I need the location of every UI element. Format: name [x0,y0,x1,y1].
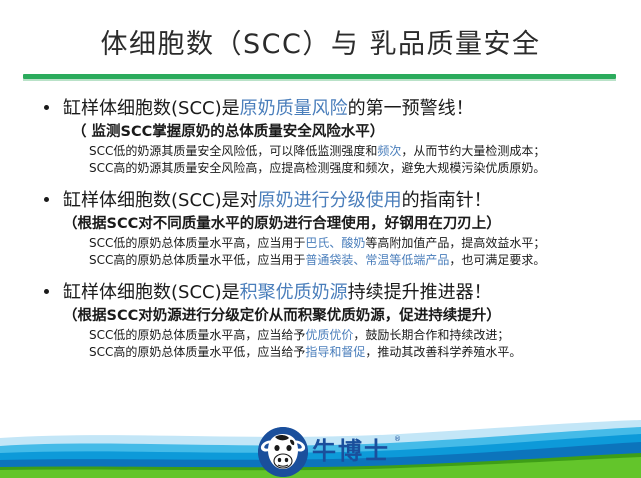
detail-text-pre: SCC高的原奶总体质量水平低，应当给予 [89,345,305,359]
logo-trademark-icon: ® [394,435,401,443]
headline-text-pre: 缸样体细胞数(SCC)是 [63,282,240,303]
detail-text-post: ，推动其改善科学养殖水平。 [365,345,521,359]
headline-text-pre: 缸样体细胞数(SCC)是对 [63,190,258,211]
bullet-headline-2: 缸样体细胞数(SCC)是对原奶进行分级使用的指南针！ [63,190,492,211]
bullet-group-2: 缸样体细胞数(SCC)是对原奶进行分级使用的指南针！ （根据SCC对不同质量水平… [0,188,641,269]
detail-text-post: ，鼓励长期合作和持续改进； [353,328,509,342]
title-block: 体细胞数（SCC）与 乳品质量安全 [0,26,641,64]
headline-text-post: 持续提升推进器！ [348,282,492,303]
detail-highlight: 普通袋装、常温等低端产品 [305,253,449,267]
detail-text-post: 等高附加值产品，提高效益水平； [365,236,545,250]
detail-text-pre: SCC高的原奶总体质量水平低，应当用于 [89,253,305,267]
bullet-detail-3-1: SCC低的原奶总体质量水平高，应当给予优质优价，鼓励长期合作和持续改进； [0,327,641,344]
detail-text-pre: SCC高的奶源其质量安全风险高，应提高检测强度和频次，避免大规模污染优质原奶。 [89,161,545,175]
bullet-headline-row-1: 缸样体细胞数(SCC)是原奶质量风险的第一预警线！ [0,96,641,121]
title-underline-shadow [23,79,616,81]
bullet-subhead-1: （ 监测SCC掌握原奶的总体质量安全风险水平） [0,121,641,143]
bullet-dot-icon [44,105,49,110]
logo-wordmark: 牛博士 [312,436,390,466]
detail-highlight: 指导和督促 [305,345,365,359]
detail-text-pre: SCC低的奶源其质量安全风险低，可以降低监测强度和 [89,144,377,158]
detail-text-pre: SCC低的原奶总体质量水平高，应当用于 [89,236,305,250]
bullet-dot-icon [44,197,49,202]
bullet-list: 缸样体细胞数(SCC)是原奶质量风险的第一预警线！ （ 监测SCC掌握原奶的总体… [0,96,641,372]
bullet-headline-1: 缸样体细胞数(SCC)是原奶质量风险的第一预警线！ [63,98,474,119]
slide: 体细胞数（SCC）与 乳品质量安全 缸样体细胞数(SCC)是原奶质量风险的第一预… [0,0,641,478]
bullet-detail-3-2: SCC高的原奶总体质量水平低，应当给予指导和督促，推动其改善科学养殖水平。 [0,344,641,361]
headline-highlight: 原奶进行分级使用 [258,190,402,211]
bullet-headline-row-2: 缸样体细胞数(SCC)是对原奶进行分级使用的指南针！ [0,188,641,213]
brand-logo: 牛博士 ® [258,427,398,477]
page-title: 体细胞数（SCC）与 乳品质量安全 [0,26,641,64]
bullet-headline-3: 缸样体细胞数(SCC)是积聚优质奶源持续提升推进器！ [63,282,492,303]
bullet-subhead-2: （根据SCC对不同质量水平的原奶进行合理使用，好钢用在刀刃上） [0,213,641,235]
headline-highlight: 原奶质量风险 [240,98,348,119]
detail-highlight: 频次 [377,144,401,158]
bullet-subhead-3: （根据SCC对奶源进行分级定价从而积聚优质奶源，促进持续提升） [0,305,641,327]
headline-text-post: 的第一预警线！ [348,98,474,119]
bullet-detail-2-1: SCC低的原奶总体质量水平高，应当用于巴氏、酸奶等高附加值产品，提高效益水平； [0,235,641,252]
bullet-group-3: 缸样体细胞数(SCC)是积聚优质奶源持续提升推进器！ （根据SCC对奶源进行分级… [0,280,641,361]
detail-text-post: ，也可满足要求。 [449,253,545,267]
headline-text-post: 的指南针！ [402,190,492,211]
detail-text-pre: SCC低的原奶总体质量水平高，应当给予 [89,328,305,342]
logo-circle-badge [258,427,308,477]
bullet-detail-1-2: SCC高的奶源其质量安全风险高，应提高检测强度和频次，避免大规模污染优质原奶。 [0,160,641,177]
bullet-dot-icon [44,289,49,294]
detail-highlight: 巴氏、酸奶 [305,236,365,250]
bullet-detail-1-1: SCC低的奶源其质量安全风险低，可以降低监测强度和频次，从而节约大量检测成本； [0,143,641,160]
detail-text-post: ，从而节约大量检测成本； [401,144,545,158]
bullet-headline-row-3: 缸样体细胞数(SCC)是积聚优质奶源持续提升推进器！ [0,280,641,305]
cow-head-icon [258,427,308,477]
bullet-detail-2-2: SCC高的原奶总体质量水平低，应当用于普通袋装、常温等低端产品，也可满足要求。 [0,252,641,269]
headline-text-pre: 缸样体细胞数(SCC)是 [63,98,240,119]
detail-highlight: 优质优价 [305,328,353,342]
headline-highlight: 积聚优质奶源 [240,282,348,303]
bullet-group-1: 缸样体细胞数(SCC)是原奶质量风险的第一预警线！ （ 监测SCC掌握原奶的总体… [0,96,641,177]
